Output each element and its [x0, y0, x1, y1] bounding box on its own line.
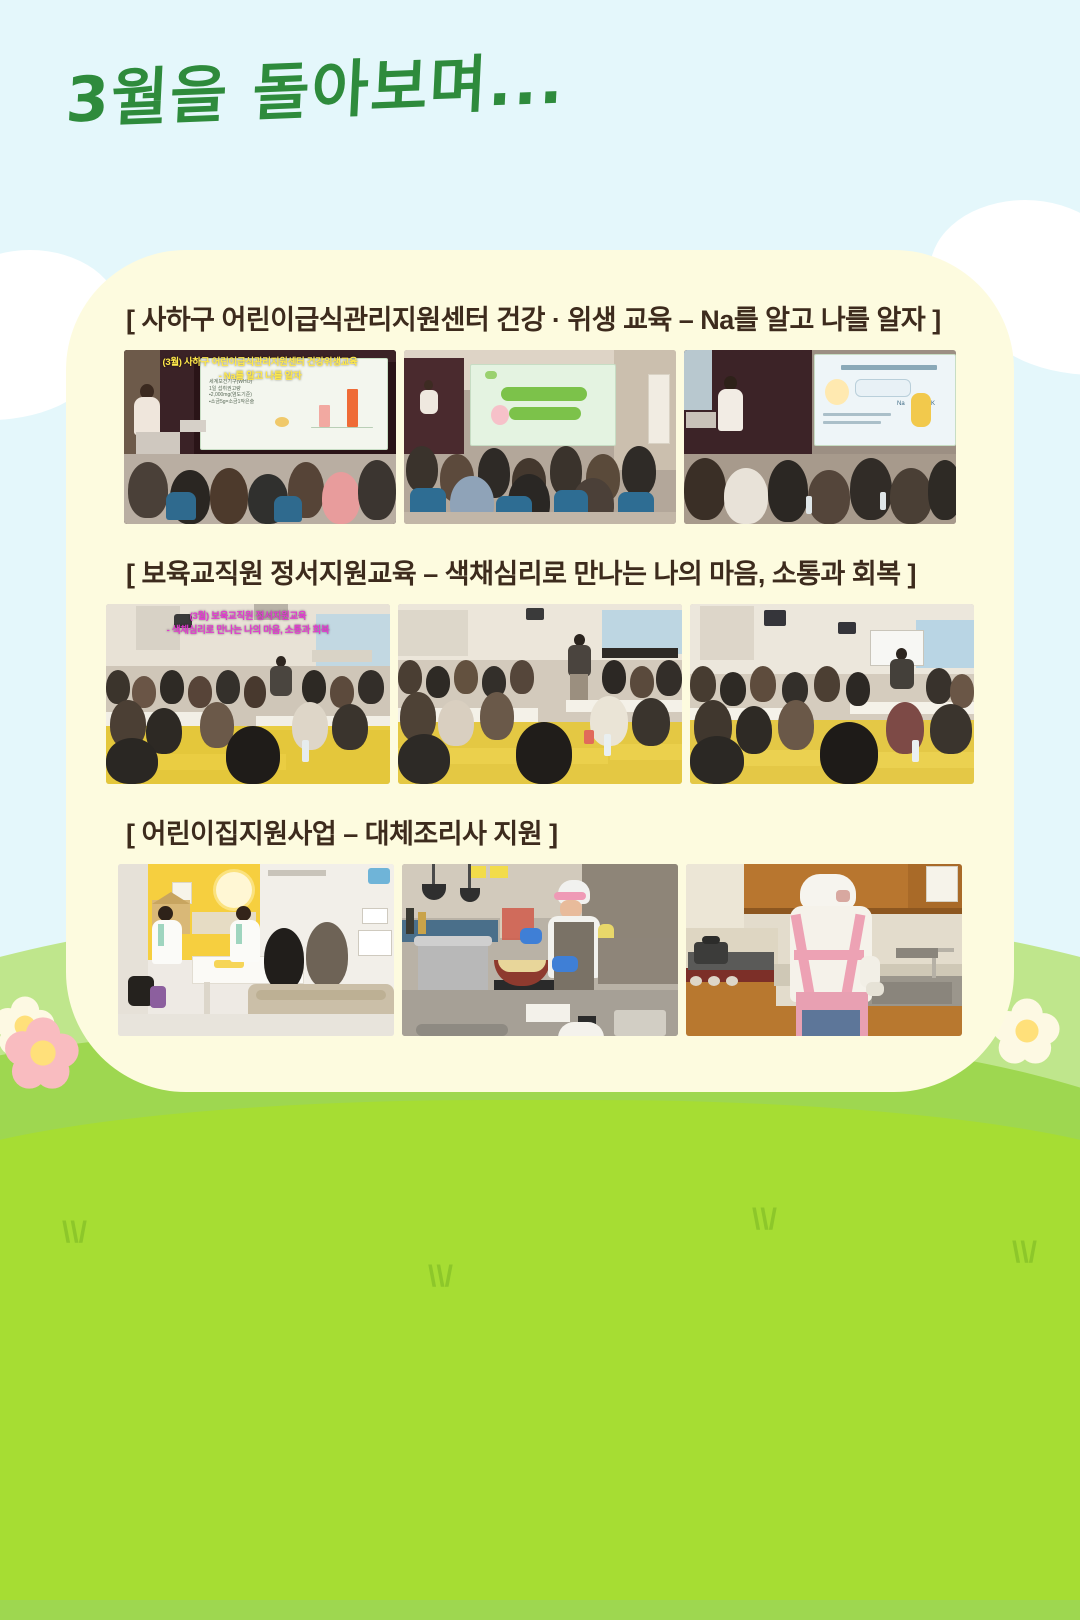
photo-na-sodium-role[interactable]: Na K [684, 350, 956, 524]
photo-row-daycare [102, 864, 978, 1036]
photo-consultation-room[interactable] [118, 864, 394, 1036]
section-heading-daycare: [ 어린이집지원사업 – 대체조리사 지원 ] [102, 812, 978, 851]
photo-na-lecture-speaker[interactable]: 세계보건기구(WHO)1일 섭취권고량▪2,000mg(염도기준)▪소금5g=소… [124, 350, 396, 524]
photo-emotion-whiteboard[interactable] [690, 604, 974, 784]
photo-emotion-classroom-wide[interactable] [398, 604, 682, 784]
section-daycare-support-project: [ 어린이집지원사업 – 대체조리사 지원 ] [102, 812, 978, 1036]
photo-cook-sink[interactable] [686, 864, 962, 1036]
photo-caption: (3월) 보육교직원 정서지원교육 - 색채심리로 만나는 나의 마음, 소통과… [106, 610, 390, 638]
photo-row-emotion: (3월) 보육교직원 정서지원교육 - 색채심리로 만나는 나의 마음, 소통과… [102, 604, 978, 784]
photo-caption: (3월) 사하구 어린이급식관리지원센터 건강위생교육 - Na를 알고 나를 … [124, 356, 396, 384]
photo-row-na: 세계보건기구(WHO)1일 섭취권고량▪2,000mg(염도기준)▪소금5g=소… [102, 350, 978, 524]
hill-front-layer [0, 1100, 1080, 1600]
grass-tuft-icon-3: \\/ [752, 1205, 777, 1235]
section-heading-na: [ 사하구 어린이급식관리지원센터 건강 · 위생 교육 – Na를 알고 나를… [102, 298, 978, 337]
content-card: [ 사하구 어린이급식관리지원센터 건강 · 위생 교육 – Na를 알고 나를… [66, 250, 1014, 1092]
grass-tuft-icon-4: \\/ [1012, 1238, 1037, 1268]
grass-tuft-icon-1: \\/ [62, 1218, 87, 1248]
section-emotion-support-education: [ 보육교직원 정서지원교육 – 색채심리로 만나는 나의 마음, 소통과 회복… [102, 552, 978, 784]
photo-cook-wok[interactable] [402, 864, 678, 1036]
section-heading-emotion: [ 보육교직원 정서지원교육 – 색채심리로 만나는 나의 마음, 소통과 회복… [102, 552, 978, 591]
section-na-education: [ 사하구 어린이급식관리지원센터 건강 · 위생 교육 – Na를 알고 나를… [102, 298, 978, 524]
photo-emotion-classroom-titled[interactable]: (3월) 보육교직원 정서지원교육 - 색채심리로 만나는 나의 마음, 소통과… [106, 604, 390, 784]
flower-icon-left-pink [7, 1017, 78, 1088]
photo-na-audience-slide[interactable] [404, 350, 676, 524]
grass-tuft-icon-2: \\/ [428, 1262, 453, 1292]
